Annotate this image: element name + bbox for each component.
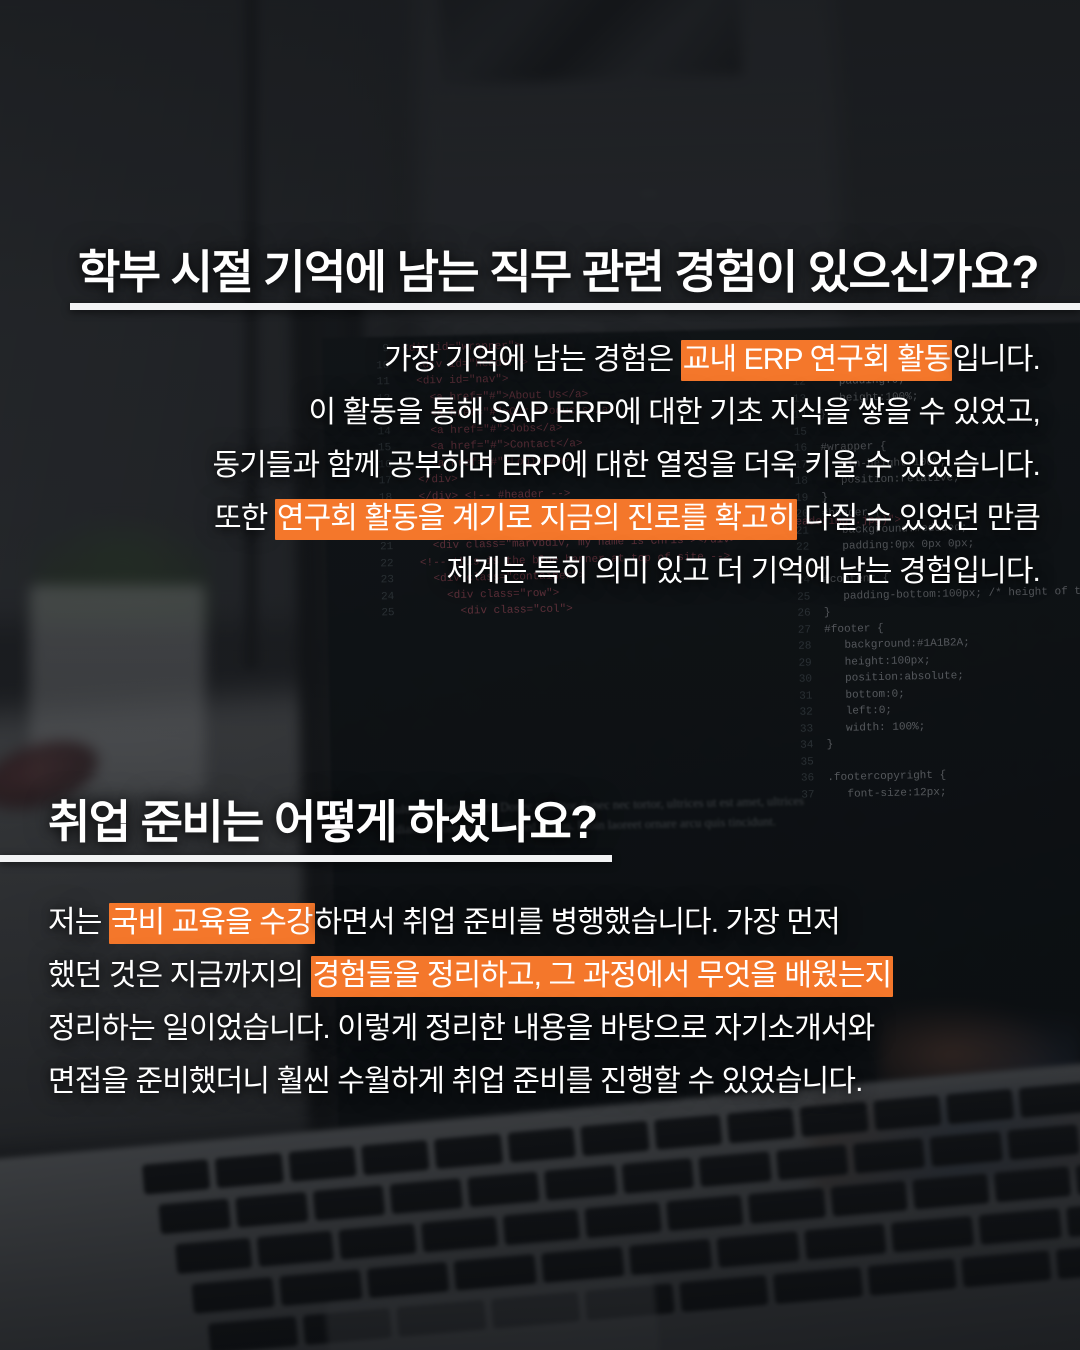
plain-text: 이 활동을 통해 SAP ERP에 대한 기초 지식을 쌓을 수 있었고,: [308, 396, 1040, 429]
highlighted-text: 국비 교육을 수강: [109, 903, 315, 944]
plain-text: 가장 기억에 남는 경험은: [384, 343, 681, 376]
answer-line: 정리하는 일이었습니다. 이렇게 정리한 내용을 바탕으로 자기소개서와: [48, 1002, 893, 1055]
plain-text: 또한: [214, 502, 275, 535]
plain-text: 했던 것은 지금까지의: [48, 959, 311, 992]
answer-paragraph-2: 저는 국비 교육을 수강하면서 취업 준비를 병행했습니다. 가장 먼저했던 것…: [48, 896, 893, 1108]
highlighted-text: 교내 ERP 연구회 활동: [681, 340, 953, 381]
plain-text: 제게는 특히 의미 있고 더 기억에 남는 경험입니다.: [447, 555, 1040, 588]
plain-text: 동기들과 함께 공부하며 ERP에 대한 열정을 더욱 키울 수 있었습니다.: [212, 449, 1040, 482]
heading-divider-2: [0, 855, 612, 862]
plain-text: 하면서 취업 준비를 병행했습니다. 가장 먼저: [315, 906, 840, 939]
answer-line: 또한 연구회 활동을 계기로 지금의 진로를 확고히 다질 수 있었던 만큼: [212, 492, 1040, 545]
interview-card: 9 <div id="wrapper"> 10 <div id="header"…: [0, 0, 1080, 1350]
content-layer: 학부 시절 기억에 남는 직무 관련 경험이 있으신가요? 가장 기억에 남는 …: [0, 0, 1080, 1350]
answer-line: 저는 국비 교육을 수강하면서 취업 준비를 병행했습니다. 가장 먼저: [48, 896, 893, 949]
heading-divider-1: [70, 303, 1080, 310]
plain-text: 다질 수 있었던 만큼: [797, 502, 1040, 535]
highlighted-text: 연구회 활동을 계기로 지금의 진로를 확고히: [275, 499, 797, 540]
answer-line: 면접을 준비했더니 훨씬 수월하게 취업 준비를 진행할 수 있었습니다.: [48, 1055, 893, 1108]
highlighted-text: 경험들을 정리하고, 그 과정에서 무엇을 배웠는지: [311, 956, 894, 997]
plain-text: 정리하는 일이었습니다. 이렇게 정리한 내용을 바탕으로 자기소개서와: [48, 1012, 874, 1045]
plain-text: 입니다.: [952, 343, 1040, 376]
question-heading-2: 취업 준비는 어떻게 하셨나요?: [48, 786, 597, 852]
question-heading-1: 학부 시절 기억에 남는 직무 관련 경험이 있으신가요?: [78, 236, 1038, 302]
plain-text: 면접을 준비했더니 훨씬 수월하게 취업 준비를 진행할 수 있었습니다.: [48, 1065, 863, 1098]
answer-line: 제게는 특히 의미 있고 더 기억에 남는 경험입니다.: [212, 545, 1040, 598]
answer-paragraph-1: 가장 기억에 남는 경험은 교내 ERP 연구회 활동입니다.이 활동을 통해 …: [212, 333, 1040, 598]
answer-line: 했던 것은 지금까지의 경험들을 정리하고, 그 과정에서 무엇을 배웠는지: [48, 949, 893, 1002]
plain-text: 저는: [48, 906, 109, 939]
answer-line: 동기들과 함께 공부하며 ERP에 대한 열정을 더욱 키울 수 있었습니다.: [212, 439, 1040, 492]
answer-line: 가장 기억에 남는 경험은 교내 ERP 연구회 활동입니다.: [212, 333, 1040, 386]
answer-line: 이 활동을 통해 SAP ERP에 대한 기초 지식을 쌓을 수 있었고,: [212, 386, 1040, 439]
